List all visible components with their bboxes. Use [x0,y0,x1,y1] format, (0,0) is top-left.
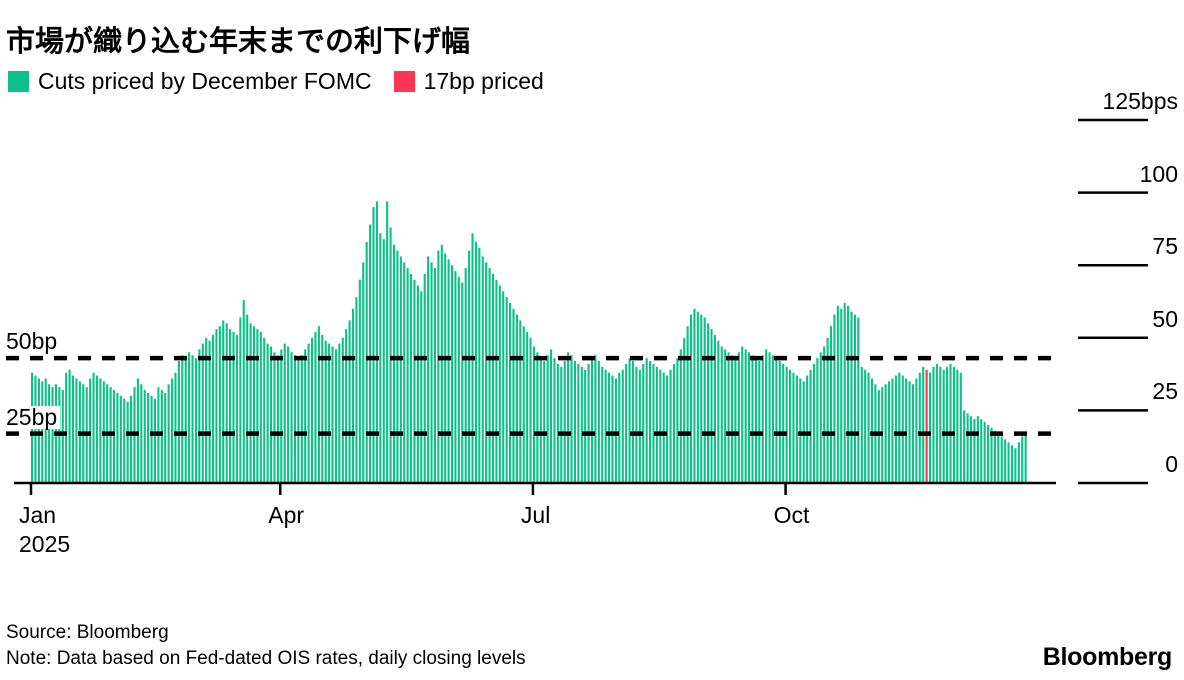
bar [499,286,501,483]
bar [202,344,204,483]
bar [929,373,931,483]
bar [967,413,969,483]
footer-notes: Source: Bloomberg Note: Data based on Fe… [6,620,526,672]
bar [45,378,47,483]
bar [588,364,590,483]
bar [564,361,566,483]
bar [673,364,675,483]
bar [130,396,132,483]
legend-item: Cuts priced by December FOMC [8,70,372,93]
bar [625,364,627,483]
bar [226,323,228,483]
bar [352,309,354,483]
bar [864,370,866,483]
bar [704,317,706,483]
bar [328,344,330,483]
x-axis-tick-label: Apr [268,502,304,529]
bar [246,315,248,483]
bar [659,370,661,483]
bar [666,376,668,483]
y-axis-tick-label: 125bps [1103,90,1178,113]
bar [290,352,292,483]
highlight-bar [926,370,928,483]
bar [680,349,682,483]
bar [618,373,620,483]
bar [369,225,371,483]
bar [987,425,989,483]
bar [775,358,777,483]
bar [738,352,740,483]
bar [536,352,538,483]
bar [250,323,252,483]
bar [1011,445,1013,483]
bar [956,370,958,483]
bar [707,323,709,483]
bar [605,370,607,483]
bar [922,367,924,483]
chart-legend: Cuts priced by December FOMC17bp priced [8,68,566,94]
bar [943,370,945,483]
x-axis-ticks [31,483,786,495]
bar [526,332,528,483]
bar [888,381,890,483]
bar [693,309,695,483]
bar [270,347,272,483]
bar [437,251,439,483]
bar [144,390,146,483]
bar [953,367,955,483]
bar [174,373,176,483]
bar [482,256,484,483]
bar [646,358,648,483]
bar [120,396,122,483]
bar [48,384,50,483]
bar [427,256,429,483]
x-axis-tick-label: Jul [521,502,550,529]
bar [799,378,801,483]
bar [239,317,241,483]
bar [847,306,849,483]
bar [171,378,173,483]
bar [973,419,975,483]
bar [1004,439,1006,483]
bar [891,378,893,483]
bar [349,320,351,483]
bar [468,251,470,483]
bar [424,274,426,483]
bar [116,393,118,483]
bar [663,373,665,483]
y-axis-ticks [1078,120,1148,483]
bar [656,367,658,483]
bar [560,367,562,483]
bar [970,416,972,483]
chart-page: 市場が織り込む年末までの利下げ幅 Cuts priced by December… [0,0,1184,680]
bar [478,248,480,483]
bar [461,283,463,483]
bar [816,358,818,483]
bar [396,251,398,483]
legend-label: Cuts priced by December FOMC [38,70,372,93]
bar [519,320,521,483]
x-axis-year-label: 2025 [19,531,70,558]
bar [229,329,231,483]
bar [454,271,456,483]
bar [895,376,897,483]
plot-area: 125bps100755025050bp25bp [0,100,1184,495]
bar [960,373,962,483]
bar [909,381,911,483]
bar [355,297,357,483]
bar [669,370,671,483]
bar [222,320,224,483]
bar [458,277,460,483]
bar [89,378,91,483]
bar [113,390,115,483]
y-axis-tick-label: 100 [1140,163,1178,186]
bar [601,367,603,483]
x-axis-tick-label: Oct [774,502,810,529]
bar [506,297,508,483]
y-axis-tick-label: 75 [1152,235,1178,258]
bar [304,349,306,483]
page-title: 市場が織り込む年末までの利下げ幅 [6,23,470,61]
bar [823,347,825,483]
bar [376,201,378,483]
bar [140,384,142,483]
bar [857,317,859,483]
bar [403,262,405,483]
bar [543,361,545,483]
bar [314,332,316,483]
bar [212,335,214,483]
bar [72,376,74,483]
bar [379,233,381,483]
bar [127,402,129,483]
bar [198,349,200,483]
bar [530,338,532,483]
bar [195,358,197,483]
bar [741,347,743,483]
bar [898,373,900,483]
bar [96,376,98,483]
threshold-label: 50bp [6,330,60,353]
bar [191,355,193,483]
bar [574,361,576,483]
bar [963,410,965,483]
bar [629,358,631,483]
bar [154,399,156,483]
bar [338,344,340,483]
bar [861,367,863,483]
bar [410,274,412,483]
bar [256,329,258,483]
bar [69,370,71,483]
bar [700,315,702,483]
bar [905,378,907,483]
bar [99,378,101,483]
bar [676,358,678,483]
bar [649,361,651,483]
bar [263,338,265,483]
bar [359,280,361,483]
bar [806,376,808,483]
bar [267,344,269,483]
bar [209,341,211,483]
bar [185,358,187,483]
bar [639,370,641,483]
bar [762,355,764,483]
bar [769,352,771,483]
bar [912,384,914,483]
x-axis-tick-label: Jan [19,502,56,529]
bar [51,387,53,483]
bar [390,227,392,483]
source-text: Source: Bloomberg [6,620,526,646]
bar [65,373,67,483]
legend-label: 17bp priced [424,70,544,93]
bar [502,291,504,483]
y-axis-tick-label: 0 [1165,453,1178,476]
bar [260,332,262,483]
bar [280,349,282,483]
bar [550,349,552,483]
bar [465,268,467,483]
bar [782,364,784,483]
bar [188,352,190,483]
bar [936,364,938,483]
bar [581,367,583,483]
y-axis-tick-label: 25 [1152,380,1178,403]
bar [594,355,596,483]
bar [308,344,310,483]
bar [570,355,572,483]
bar [475,242,477,483]
bar [297,358,299,483]
bar [417,286,419,483]
bar [786,367,788,483]
bar [697,312,699,483]
bar [611,376,613,483]
bar [717,341,719,483]
bar [345,329,347,483]
bar [622,370,624,483]
legend-item: 17bp priced [394,70,544,93]
bar [977,416,979,483]
bar [178,361,180,483]
bar [1001,437,1003,483]
bar [840,309,842,483]
bar [758,361,760,483]
bar [745,349,747,483]
bar [509,303,511,483]
bar [393,245,395,483]
bloomberg-logo: Bloomberg [1043,643,1172,672]
bar [690,315,692,483]
bar [168,384,170,483]
bar [495,280,497,483]
bar [731,355,733,483]
bar [277,355,279,483]
bar [885,384,887,483]
bar [687,326,689,483]
bar [1018,442,1020,483]
bar [1008,442,1010,483]
bar [512,309,514,483]
bar [38,378,40,483]
bar [366,242,368,483]
bar [430,262,432,483]
bar [789,370,791,483]
bar [779,361,781,483]
bar [273,352,275,483]
bar [833,315,835,483]
bar [147,393,149,483]
bar [413,280,415,483]
bar [734,358,736,483]
bar [902,376,904,483]
bar [287,347,289,483]
bar [748,352,750,483]
bar [335,349,337,483]
note-text: Note: Data based on Fed-dated OIS rates,… [6,646,526,672]
bar [813,364,815,483]
chart-svg [0,100,1184,495]
bar [485,262,487,483]
y-axis-tick-label: 50 [1152,308,1178,331]
bar [994,431,996,483]
bar [444,254,446,483]
bar [318,326,320,483]
bar [553,358,555,483]
bar [792,373,794,483]
bar [362,262,364,483]
bar [584,370,586,483]
bar [577,364,579,483]
bar [772,355,774,483]
bar [1021,437,1023,483]
bar [489,268,491,483]
bar [598,361,600,483]
bar [868,373,870,483]
square-swatch [8,71,29,92]
bar [372,207,374,483]
bar [997,434,999,483]
bar [243,300,245,483]
bar [232,332,234,483]
bar [751,355,753,483]
bar [492,274,494,483]
bar [557,364,559,483]
bar [980,419,982,483]
square-swatch [394,71,415,92]
bar [837,306,839,483]
bar [420,291,422,483]
bar [284,344,286,483]
bar [547,355,549,483]
threshold-label: 25bp [6,406,60,429]
bar [919,373,921,483]
bar [516,315,518,483]
bar [523,326,525,483]
bar [62,390,64,483]
bar [915,378,917,483]
bar [219,326,221,483]
bar [632,361,634,483]
bar [850,312,852,483]
bar [854,315,856,483]
bar [236,335,238,483]
bar [567,352,569,483]
bar [721,347,723,483]
bar [946,367,948,483]
bar [400,256,402,483]
bar [1014,448,1016,483]
bar [294,355,296,483]
bar [932,367,934,483]
bar [137,378,139,483]
bar [253,326,255,483]
bar [635,367,637,483]
bar [164,393,166,483]
bar [990,428,992,483]
bar [844,303,846,483]
bar [591,358,593,483]
bar [311,338,313,483]
bar [331,347,333,483]
bar [809,370,811,483]
bar [728,352,730,483]
bar [871,378,873,483]
bar [301,355,303,483]
bar [161,390,163,483]
bar [448,259,450,483]
bar [724,349,726,483]
bar [123,399,125,483]
bar [1025,434,1027,483]
bar [984,422,986,483]
bar [830,326,832,483]
bar [75,378,77,483]
bar [533,347,535,483]
bar [796,376,798,483]
bar [652,364,654,483]
bar [181,355,183,483]
bar [540,358,542,483]
bar [608,373,610,483]
bar [451,265,453,483]
bar [441,245,443,483]
bar [820,352,822,483]
bar [151,396,153,483]
bar [710,329,712,483]
bar [383,239,385,483]
bar [765,349,767,483]
bar [92,373,94,483]
bar [642,364,644,483]
bar [434,268,436,483]
bar [878,390,880,483]
bar [949,364,951,483]
bar [615,378,617,483]
bar [939,367,941,483]
bar [325,341,327,483]
bar [215,329,217,483]
bar [755,358,757,483]
bar [407,268,409,483]
bar-series [31,201,1027,483]
bar [386,201,388,483]
